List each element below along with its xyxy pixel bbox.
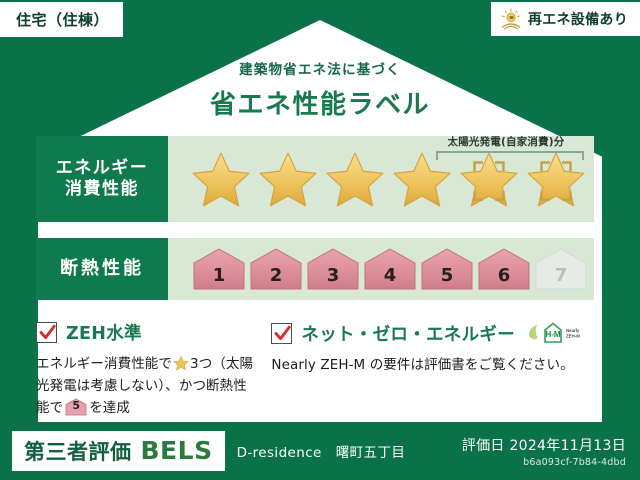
- star-item: [324, 148, 386, 210]
- check-title: ZEH水準: [66, 320, 142, 345]
- insulation-level-badge-inactive: 7: [534, 247, 588, 291]
- title-subtitle: 建築物省エネ法に基づく: [0, 58, 640, 78]
- building-type-tag-label: 住宅（住棟）: [16, 11, 109, 29]
- insulation-level-label: 1: [192, 265, 246, 286]
- energy-performance-label: 住宅（住棟） 再エネ設備あり 建築物省エネ法に基づく 省エネ性能ラベル: [0, 0, 640, 480]
- insulation-level-label: 5: [420, 265, 474, 286]
- check-description: Nearly ZEH-M の要件は評価書をご覧ください。: [271, 355, 580, 377]
- insulation-level-badge: 4: [363, 247, 417, 291]
- insulation-level-badge: 5: [420, 247, 474, 291]
- evaluation-date-value: 2024年11月13日: [509, 438, 626, 454]
- energy-performance-panel: エネルギー 消費性能: [36, 136, 594, 222]
- label-title-block: 建築物省エネ法に基づく 省エネ性能ラベル: [0, 58, 640, 121]
- inline-insulation-badge: 5: [65, 398, 87, 416]
- check-item-nze: ネット・ゼロ・エネルギー H-M Nearly ZEH-M Nearly ZEH…: [271, 320, 594, 420]
- insulation-level-badge: 2: [249, 247, 303, 291]
- bels-badge: 第三者評価 BELS: [12, 431, 225, 471]
- check-description: エネルギー消費性能で3つ（太陽光発電は考慮しない）、かつ断熱性能で5を達成: [36, 354, 257, 420]
- energy-heading-line1: エネルギー: [56, 158, 149, 179]
- footer-bar: 第三者評価 BELS D-residence曙町五丁目 評価日 2024年11月…: [0, 422, 640, 480]
- evaluation-date-row: 評価日 2024年11月13日: [462, 435, 626, 455]
- check-title: ネット・ゼロ・エネルギー: [301, 321, 515, 346]
- nearly-zeh-m-logo: H-M Nearly ZEH-M: [526, 320, 580, 346]
- energy-performance-heading: エネルギー 消費性能: [36, 136, 168, 222]
- building-info: D-residence曙町五丁目: [237, 441, 406, 461]
- check-desc-part1: エネルギー消費性能で: [36, 356, 172, 372]
- insulation-level-list: 1 2 3 4 5: [168, 247, 588, 291]
- building-address: 曙町五丁目: [336, 445, 406, 461]
- pv-range-bracket: [436, 151, 584, 160]
- sun-renewable-icon: [499, 8, 523, 30]
- energy-heading-line2: 消費性能: [65, 179, 139, 200]
- evaluation-date-label: 評価日: [462, 438, 505, 454]
- bels-en-label: BELS: [141, 436, 213, 465]
- insulation-level-label: 3: [306, 265, 360, 286]
- insulation-performance-panel: 断熱性能 1 2 3 4: [36, 238, 594, 300]
- bels-jp-label: 第三者評価: [24, 436, 132, 466]
- svg-text:Nearly: Nearly: [566, 328, 580, 333]
- insulation-levels-area: 1 2 3 4 5: [168, 238, 594, 300]
- red-check-icon[interactable]: [271, 323, 292, 344]
- evaluation-id: b6a093cf-7b84-4dbd: [462, 457, 626, 468]
- svg-text:ZEH-M: ZEH-M: [566, 334, 580, 339]
- insulation-performance-heading: 断熱性能: [36, 238, 168, 300]
- insulation-level-label: 2: [249, 265, 303, 286]
- check-header: ZEH水準: [36, 320, 257, 345]
- insulation-level-label: 6: [477, 265, 531, 286]
- insulation-level-label: 7: [534, 265, 588, 286]
- red-check-icon[interactable]: [36, 322, 57, 343]
- insulation-level-label: 4: [363, 265, 417, 286]
- inline-badge-label: 5: [65, 397, 87, 415]
- star-item: [257, 148, 319, 210]
- title-main: 省エネ性能ラベル: [0, 84, 640, 121]
- svg-text:H-M: H-M: [545, 330, 560, 339]
- evaluation-info: 評価日 2024年11月13日 b6a093cf-7b84-4dbd: [462, 435, 626, 468]
- check-item-zeh: ZEH水準 エネルギー消費性能で3つ（太陽光発電は考慮しない）、かつ断熱性能で5…: [36, 320, 271, 420]
- certification-checks: ZEH水準 エネルギー消費性能で3つ（太陽光発電は考慮しない）、かつ断熱性能で5…: [36, 320, 594, 420]
- check-header: ネット・ゼロ・エネルギー H-M Nearly ZEH-M: [271, 320, 580, 346]
- energy-stars-area: 太陽光発電(自家消費)分: [168, 136, 594, 222]
- pv-note-label: 太陽光発電(自家消費)分: [426, 134, 586, 149]
- insulation-level-badge: 1: [192, 247, 246, 291]
- building-type-tag: 住宅（住棟）: [0, 2, 123, 37]
- insulation-level-badge: 6: [477, 247, 531, 291]
- renewable-energy-tag: 再エネ設備あり: [491, 2, 640, 36]
- star-icon: [173, 355, 189, 371]
- insulation-level-badge: 3: [306, 247, 360, 291]
- building-name: D-residence: [237, 445, 322, 461]
- star-item: [190, 148, 252, 210]
- check-desc-part3: を達成: [89, 400, 130, 416]
- renewable-energy-tag-label: 再エネ設備あり: [528, 9, 628, 29]
